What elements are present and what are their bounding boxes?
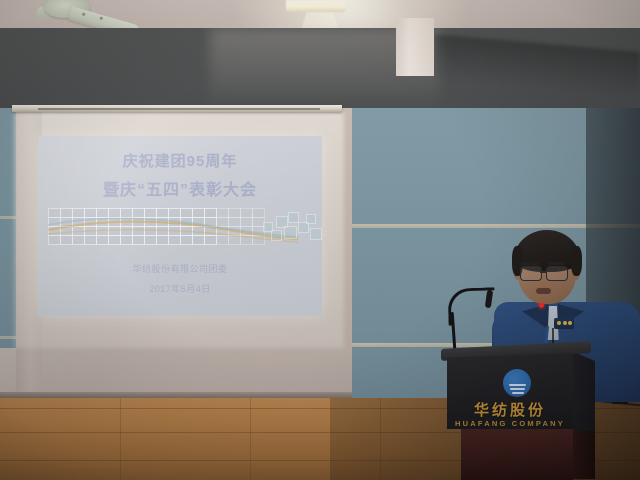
speaker-hair-side-right (571, 246, 582, 276)
speaker-glasses-bridge (540, 271, 546, 273)
slide-decorative-grid (48, 208, 268, 248)
microphone-led-indicator (539, 303, 544, 308)
podium-company-name-cn: 华纺股份 (447, 399, 573, 420)
scatter-square (306, 214, 316, 224)
conference-room-photo: 庆祝建团95周年 暨庆“五四”表彰大会 华纺股份有限公司团委 2017年5月4日 (0, 0, 640, 480)
podium: 华纺股份 HUAFANG COMPANY (437, 345, 595, 480)
company-logo-icon (503, 369, 531, 397)
speaker-glasses-right-lens (546, 266, 568, 281)
projection-screen-icon: 庆祝建团95周年 暨庆“五四”表彰大会 华纺股份有限公司团委 2017年5月4日 (38, 136, 322, 316)
scatter-square (263, 222, 273, 232)
podium-base (461, 427, 573, 480)
slide-subtitle-org: 华纺股份有限公司团委 (38, 262, 322, 275)
scatter-square (310, 228, 322, 240)
speaker-glasses-left-lens (520, 266, 542, 281)
slide-title-line2: 暨庆“五四”表彰大会 (38, 176, 322, 200)
structural-column (396, 18, 434, 76)
ceiling-light-icon (286, 0, 346, 12)
slide-title-line1: 庆祝建团95周年 (38, 150, 322, 171)
speaker-badge (554, 318, 574, 329)
podium-front-panel: 华纺股份 HUAFANG COMPANY (447, 353, 573, 429)
projection-screen-roller (12, 105, 342, 112)
speaker-mouth (536, 288, 551, 294)
scatter-square (284, 226, 297, 239)
grid-cell (252, 235, 265, 245)
podium-base-side (573, 431, 595, 479)
podium-company-name-en: HUAFANG COMPANY (447, 419, 573, 428)
slide-subtitle-date: 2017年5月4日 (38, 282, 322, 295)
